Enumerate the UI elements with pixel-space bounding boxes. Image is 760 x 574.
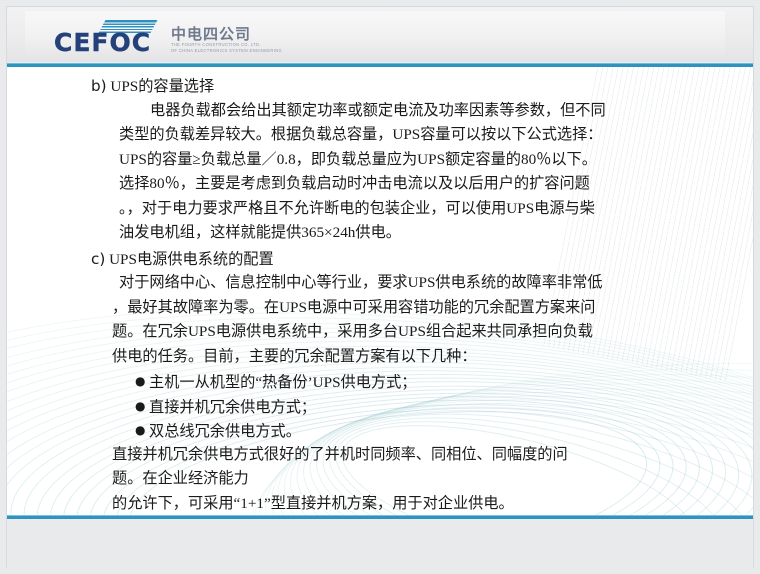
slide-content-area: b) UPS的容量选择 电器负载都会给出其额定功率或额定电流及功率因素等参数，但… xyxy=(7,67,753,515)
section-b-line-6: 油发电机组，这样就能提供365×24h供电。 xyxy=(119,221,401,246)
section-c-line-3: 题。在冗余UPS电源供电系统中，采用多台UPS组合起来共同承担向负载 xyxy=(112,320,593,345)
logo-chinese-name: 中电四公司 xyxy=(171,26,282,43)
section-b-line-1: 电器负载都会给出其额定功率或额定电流及功率因素等参数，但不同 xyxy=(150,99,606,124)
list-item: ●直接并机冗余供电方式； xyxy=(135,394,316,421)
section-b-line-5: 。，对于电力要求严格且不允许断电的包装企业，可以使用UPS电源与柴 xyxy=(119,197,595,222)
section-b-line-4: 选择80％，主要是考虑到负载启动时冲击电流以及以后用户的扩容问题 xyxy=(119,172,590,197)
section-c-heading: c) UPS电源供电系统的配置 xyxy=(91,247,274,273)
logo-english-line-2: OF CHINA ELECTRONICS SYSTEM ENGINEERING xyxy=(171,48,282,54)
section-c-tail-line-1: 直接并机冗余供电方式很好的了并机时同频率、同相位、同幅度的问 xyxy=(112,443,568,468)
logo-mark: CEFOC xyxy=(54,21,159,55)
section-c-tail-line-2: 题。在企业经济能力 xyxy=(112,467,249,492)
section-b-heading-text: UPS的容量选择 xyxy=(110,78,214,95)
section-b-line-3: UPS的容量≥负载总量／0.8，即负载总量应为UPS额定容量的80％以下。 xyxy=(119,148,597,173)
slide-canvas: CEFOC 中电四公司 THE FOURTH CONSTRUCTION CO. … xyxy=(0,0,760,574)
section-c-tail-line-3: 的允许下，可采用“1+1”型直接并机方案，用于对企业供电。 xyxy=(112,492,514,515)
section-c-line-1: 对于网络中心、信息控制中心等行业，要求UPS供电系统的故障率非常低 xyxy=(119,271,603,296)
bullet-point-icon: ● xyxy=(135,369,149,394)
list-item-label: 主机一从机型的“热备份’UPS供电方式； xyxy=(149,374,416,391)
company-logo: CEFOC 中电四公司 THE FOURTH CONSTRUCTION CO. … xyxy=(54,21,282,55)
section-c-heading-text: UPS电源供电系统的配置 xyxy=(109,251,274,268)
logo-chinese-block: 中电四公司 THE FOURTH CONSTRUCTION CO. LTD. O… xyxy=(171,26,282,54)
section-c-line-2: ，最好其故障率为零。在UPS电源中可采用容错功能的冗余配置方案来问 xyxy=(112,296,596,321)
list-item-label: 直接并机冗余供电方式； xyxy=(149,399,316,416)
list-item-label: 双总线冗余供电方式。 xyxy=(149,423,301,440)
section-b-heading: b) UPS的容量选择 xyxy=(91,74,214,100)
list-item: ●双总线冗余供电方式。 xyxy=(135,418,301,445)
slide-header: CEFOC 中电四公司 THE FOURTH CONSTRUCTION CO. … xyxy=(7,7,753,62)
section-b-marker: b) xyxy=(91,77,107,95)
section-b-line-2: 类型的负载差异较大。根据负载总容量，UPS容量可以按以下公式选择： xyxy=(119,123,603,148)
slide-footer xyxy=(7,519,753,568)
bullet-point-icon: ● xyxy=(135,394,149,419)
bullet-point-icon: ● xyxy=(135,418,149,443)
logo-wordmark: CEFOC xyxy=(54,30,151,55)
list-item: ●主机一从机型的“热备份’UPS供电方式； xyxy=(135,369,416,396)
section-c-line-4: 供电的任务。目前，主要的冗余配置方案有以下几种： xyxy=(112,345,477,370)
section-c-marker: c) xyxy=(91,250,105,268)
